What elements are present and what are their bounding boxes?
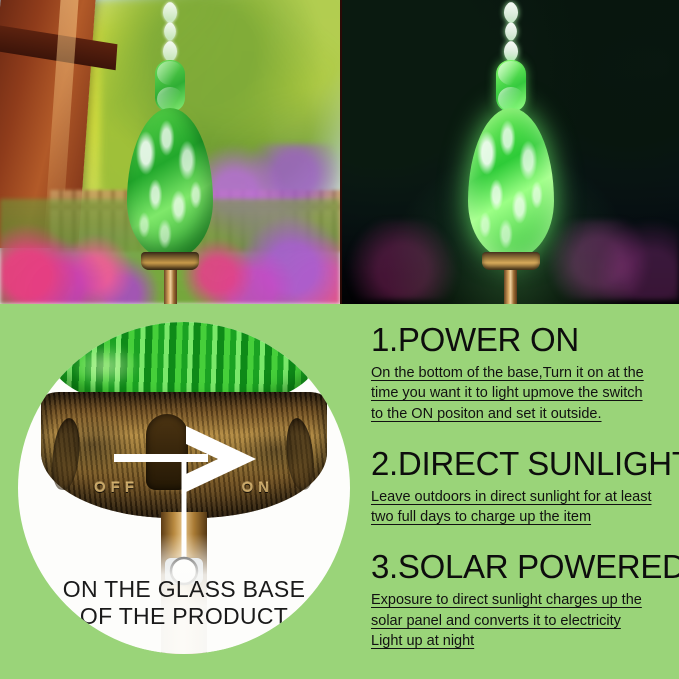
twisted-glass-neck — [496, 60, 526, 112]
daytime-garden-photo — [0, 0, 340, 304]
step-1-line-2: time you want it to light upmove the swi… — [371, 383, 671, 403]
finial-bead-top — [498, 0, 522, 24]
bronze-base: OFF ON — [41, 392, 327, 518]
instructions-panel: OFF ON ON THE GLASS BASE OF THE PRODUCT — [0, 304, 679, 679]
inset-caption: ON THE GLASS BASE OF THE PRODUCT — [18, 576, 350, 630]
finial-bead-mid — [159, 21, 180, 42]
step-2-title: 2.DIRECT SUNLIGHT — [371, 446, 671, 483]
nighttime-glowing-photo — [340, 0, 679, 304]
step-solar-powered: 3.SOLAR POWERED Exposure to direct sunli… — [371, 549, 671, 651]
solar-stake-product-night — [468, 4, 554, 304]
step-1-line-3: to the ON positon and set it outside. — [371, 404, 671, 424]
step-2-line-2: two full days to charge up the item — [371, 507, 671, 527]
instruction-steps: 1.POWER ON On the bottom of the base,Tur… — [371, 322, 671, 667]
step-3-line-3: Light up at night — [371, 631, 671, 651]
glass-finial — [157, 4, 183, 62]
step-1-line-1: On the bottom of the base,Turn it on at … — [371, 363, 671, 383]
inset-caption-line-1: ON THE GLASS BASE — [18, 576, 350, 603]
inset-caption-line-2: OF THE PRODUCT — [18, 603, 350, 630]
step-2-body: Leave outdoors in direct sunlight for at… — [371, 487, 671, 528]
step-3-body: Exposure to direct sunlight charges up t… — [371, 590, 671, 651]
step-direct-sunlight: 2.DIRECT SUNLIGHT Leave outdoors in dire… — [371, 446, 671, 528]
label-off: OFF — [94, 479, 139, 496]
switch-closeup-circle: OFF ON ON THE GLASS BASE OF THE PRODUCT — [18, 322, 350, 654]
photo-row — [0, 0, 679, 304]
base-slot-left — [49, 417, 82, 491]
step-3-title: 3.SOLAR POWERED — [371, 549, 671, 586]
metal-stem — [164, 270, 177, 304]
glass-speckle-pattern — [468, 108, 554, 258]
off-on-embossed-label: OFF ON — [94, 479, 274, 496]
finial-bead-mid — [500, 21, 521, 42]
glass-finial — [498, 4, 524, 62]
metal-collar — [141, 252, 199, 270]
solar-stake-product-day — [127, 4, 213, 304]
step-2-line-1: Leave outdoors in direct sunlight for at… — [371, 487, 671, 507]
glass-bulb — [127, 108, 213, 258]
glass-speckle-pattern — [127, 108, 213, 258]
step-1-title: 1.POWER ON — [371, 322, 671, 359]
glass-bulb — [468, 108, 554, 258]
base-slot-right — [283, 417, 316, 491]
step-3-line-1: Exposure to direct sunlight charges up t… — [371, 590, 671, 610]
product-infographic: OFF ON ON THE GLASS BASE OF THE PRODUCT — [0, 0, 679, 679]
step-power-on: 1.POWER ON On the bottom of the base,Tur… — [371, 322, 671, 424]
metal-stem — [504, 270, 517, 304]
step-1-body: On the bottom of the base,Turn it on at … — [371, 363, 671, 424]
twisted-glass-neck — [155, 60, 185, 112]
finial-bead-top — [158, 0, 182, 24]
metal-collar — [482, 252, 540, 270]
label-on: ON — [242, 479, 275, 496]
step-3-line-2: solar panel and converts it to electrici… — [371, 611, 671, 631]
